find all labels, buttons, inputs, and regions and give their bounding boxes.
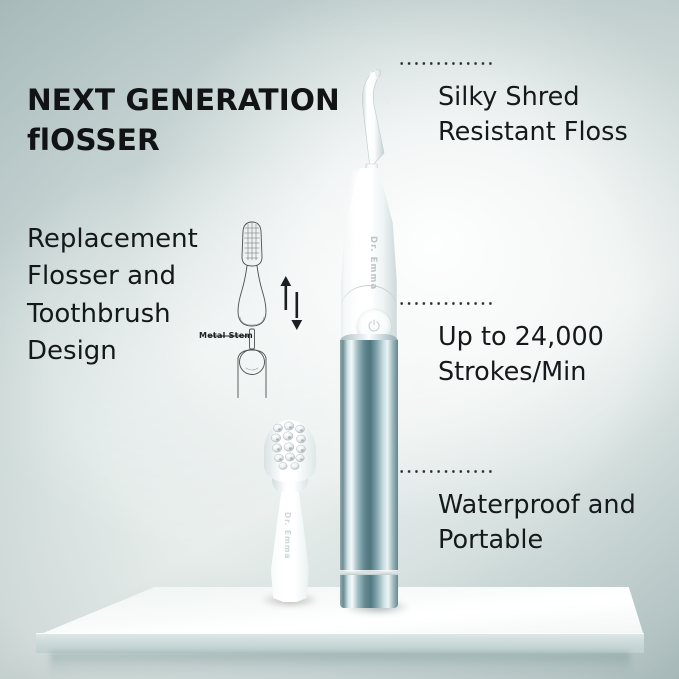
feature-label: Waterproof and Portable: [438, 488, 668, 558]
replacement-head-diagram: [196, 216, 320, 398]
floss-strand: [374, 68, 388, 104]
platform-under-shadow: [50, 652, 630, 678]
feature-line-1: Waterproof and: [438, 488, 668, 523]
power-icon[interactable]: ⏻: [366, 318, 382, 335]
headline-line-1: NEXT GENERATION: [27, 80, 357, 120]
feature-line-1: Silky Shred: [438, 80, 668, 115]
headline-line-2: flOSSER: [27, 120, 357, 160]
product-infographic: NEXT GENERATION flOSSER Replacement Flos…: [0, 0, 679, 679]
feature-callout-waterproof: Waterproof and Portable: [396, 470, 668, 558]
diagram-socket-circle: [240, 350, 265, 375]
leader-dots-icon: [398, 470, 494, 473]
page-title: NEXT GENERATION flOSSER: [27, 80, 357, 161]
diagram-neck-left: [238, 266, 247, 311]
diagram-socket-inner: [246, 368, 258, 370]
brush-bristles: [264, 418, 316, 476]
diagram-bristle-texture: [245, 223, 260, 260]
feature-line-2: Strokes/Min: [438, 355, 668, 390]
feature-line-2: Portable: [438, 523, 668, 558]
brush-head-brand-label: Dr. Emma: [283, 512, 292, 559]
feature-line-2: Resistant Floss: [438, 115, 668, 150]
platform-front-edge: [36, 634, 644, 653]
feature-label: Up to 24,000 Strokes/Min: [438, 320, 668, 390]
diagram-motion-arrows: [280, 276, 302, 330]
diagram-head-base: [238, 311, 266, 326]
feature-label: Silky Shred Resistant Floss: [438, 80, 668, 150]
diagram-neck-right: [257, 266, 266, 311]
arrow-up-icon: [280, 276, 291, 310]
device-brand-label: Dr. Emma: [368, 236, 378, 290]
feature-callout-floss: Silky Shred Resistant Floss: [396, 62, 668, 150]
arrow-down-icon: [291, 292, 302, 330]
feature-callout-strokes: Up to 24,000 Strokes/Min: [396, 302, 668, 390]
device-bottom-cap: [340, 575, 398, 608]
device-lower-body: [340, 340, 398, 572]
diagram-handle-sides: [238, 358, 266, 398]
metal-stem-label: Metal Stem: [199, 331, 253, 340]
feature-line-1: Up to 24,000: [438, 320, 668, 355]
leader-dots-icon: [398, 302, 494, 305]
